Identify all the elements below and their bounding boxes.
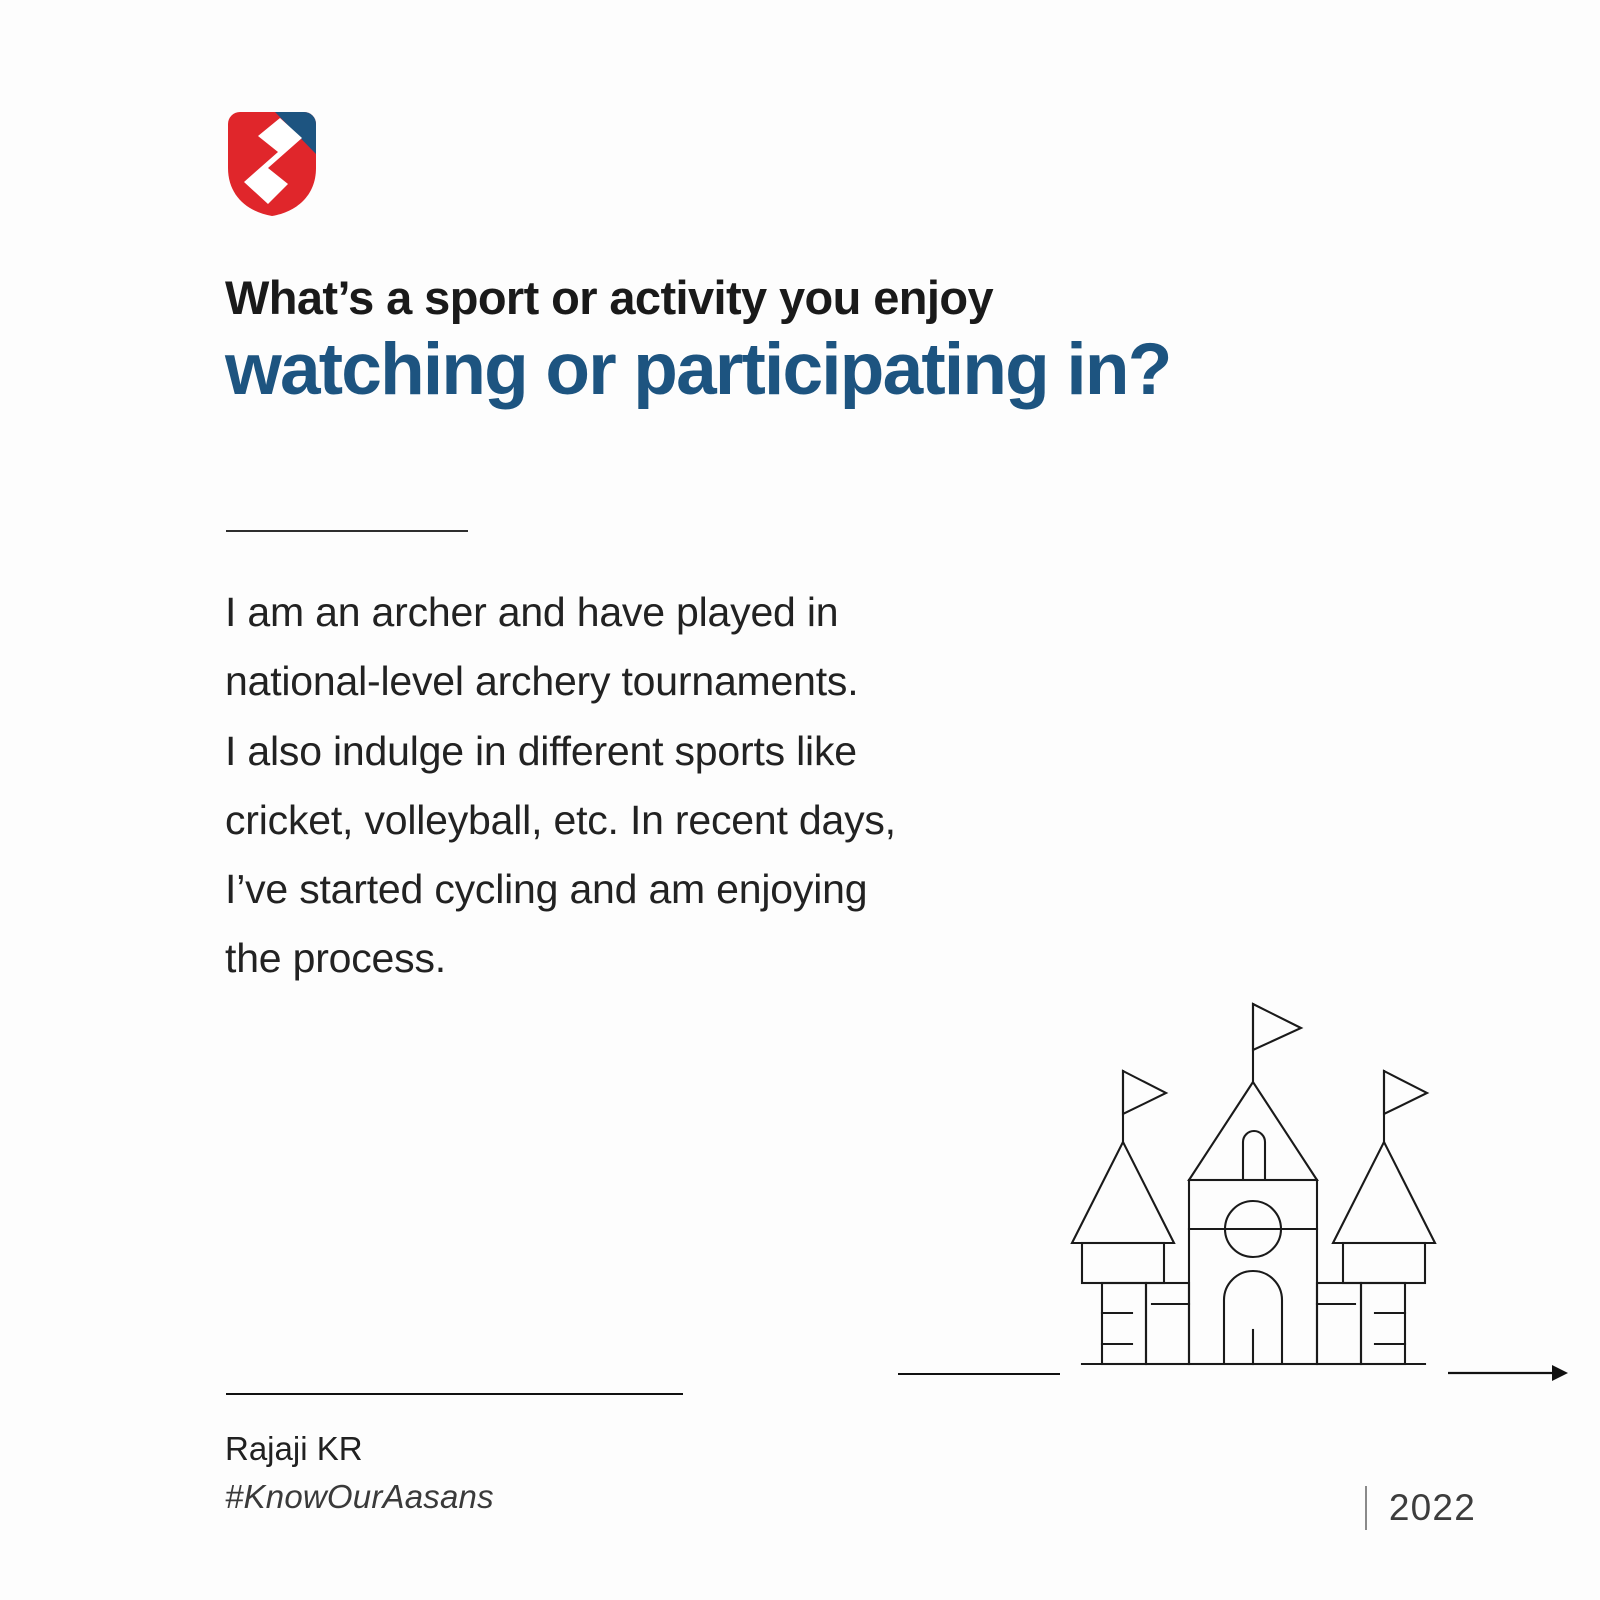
footer-year-block: 2022 (1365, 1486, 1476, 1530)
answer-line: I am an archer and have played in (225, 578, 1105, 647)
answer-text: I am an archer and have played in nation… (225, 578, 1105, 994)
slide-card: What’s a sport or activity you enjoy wat… (0, 0, 1600, 1600)
answer-line: I also indulge in different sports like (225, 717, 1105, 786)
year-label: 2022 (1389, 1487, 1476, 1529)
page-title: What’s a sport or activity you enjoy wat… (225, 272, 1485, 410)
question-line-1: What’s a sport or activity you enjoy (225, 272, 1485, 325)
ground-line-left-segment (898, 1373, 1060, 1375)
answer-line: cricket, volleyball, etc. In recent days… (225, 786, 1105, 855)
year-separator-bar (1365, 1486, 1367, 1530)
answer-line: national-level archery tournaments. (225, 647, 1105, 716)
campaign-hashtag: #KnowOurAasans (225, 1475, 494, 1519)
footer-rule-left (226, 1393, 683, 1395)
castle-illustration (1044, 962, 1464, 1374)
shield-logo-icon (228, 112, 316, 216)
author-name: Rajaji KR (225, 1428, 494, 1471)
arrow-right-icon (1448, 1359, 1568, 1387)
footer-author-block: Rajaji KR #KnowOurAasans (225, 1428, 494, 1519)
answer-line: I’ve started cycling and am enjoying (225, 855, 1105, 924)
answer-line: the process. (225, 924, 1105, 993)
question-line-2: watching or participating in? (225, 329, 1485, 411)
divider-above-answer (226, 530, 468, 532)
